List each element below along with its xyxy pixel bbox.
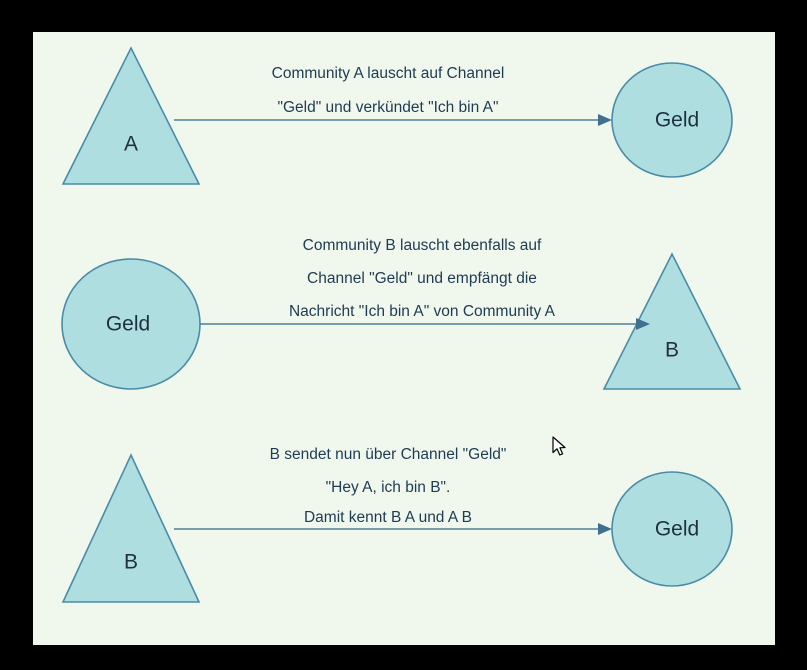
- diagram-canvas: A Geld Community A lauscht auf Channel "…: [33, 32, 775, 645]
- row-3-target-label: Geld: [655, 518, 699, 541]
- row-2-source-label: Geld: [106, 313, 150, 336]
- row-1-group: A Geld Community A lauscht auf Channel "…: [63, 48, 732, 184]
- row-2-edge-label-line-3: Nachricht "Ich bin A" von Community A: [289, 303, 556, 320]
- row-1-target-label: Geld: [655, 109, 699, 132]
- row-2-target-triangle[interactable]: [604, 254, 740, 389]
- screen-root: A Geld Community A lauscht auf Channel "…: [0, 0, 807, 670]
- row-1-source-label: A: [124, 133, 138, 156]
- row-3-arrowhead-icon: [598, 523, 612, 535]
- row-3-group: B Geld B sendet nun über Channel "Geld" …: [63, 446, 732, 602]
- row-1-edge-label-line-1: Community A lauscht auf Channel: [272, 65, 505, 82]
- row-3-source-label: B: [124, 551, 138, 574]
- row-2-edge-label-line-1: Community B lauscht ebenfalls auf: [303, 237, 542, 254]
- row-3-edge-label-line-3: Damit kennt B A und A B: [304, 509, 472, 526]
- row-3-edge-label-line-2: "Hey A, ich bin B".: [326, 479, 451, 496]
- row-1-source-triangle[interactable]: [63, 48, 199, 184]
- row-2-target-label: B: [665, 339, 679, 362]
- row-1-edge-label-line-2: "Geld" und verkündet "Ich bin A": [277, 99, 498, 116]
- row-3-edge-label-line-1: B sendet nun über Channel "Geld": [270, 446, 507, 463]
- row-1-arrowhead-icon: [598, 114, 612, 126]
- diagram-svg: A Geld Community A lauscht auf Channel "…: [33, 32, 775, 645]
- row-2-group: Geld B Community B lauscht ebenfalls auf…: [62, 237, 740, 389]
- row-2-edge-label-line-2: Channel "Geld" und empfängt die: [307, 270, 537, 287]
